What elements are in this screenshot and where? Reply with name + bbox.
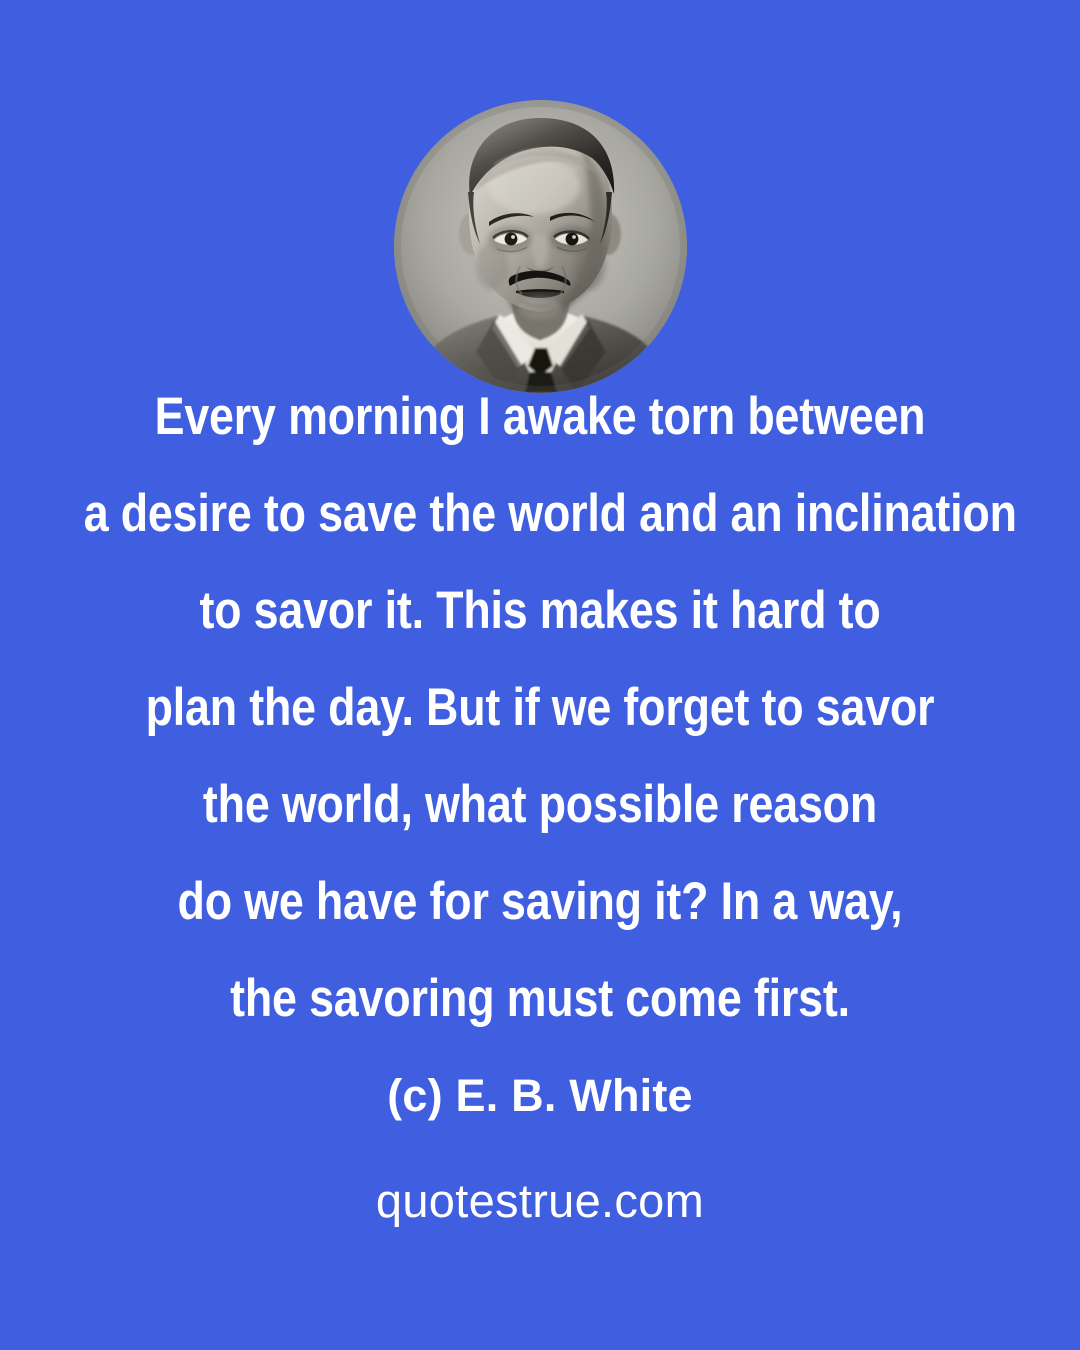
quote-line: the world, what possible reason [84, 756, 997, 853]
avatar [394, 100, 687, 393]
portrait-photo-icon [394, 100, 687, 393]
quote-card: Every morning I awake torn between a des… [0, 0, 1080, 1350]
quote-attribution: (c) E. B. White [0, 1068, 1080, 1124]
quote-line: do we have for saving it? In a way, [84, 853, 997, 950]
source-website: quotestrue.com [0, 1172, 1080, 1230]
quote-text: Every morning I awake torn between a des… [0, 368, 1080, 1047]
quote-line: a desire to save the world and an inclin… [84, 465, 997, 562]
quote-line: Every morning I awake torn between [84, 368, 997, 465]
quote-line: the savoring must come first. [84, 950, 997, 1047]
quote-line: to savor it. This makes it hard to [84, 562, 997, 659]
quote-line: plan the day. But if we forget to savor [84, 659, 997, 756]
